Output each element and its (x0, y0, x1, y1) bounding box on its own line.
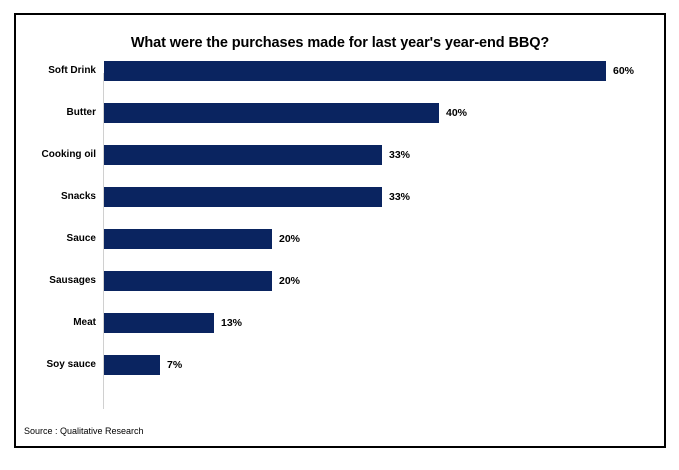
bar-row: Sauce 20% (16, 229, 664, 271)
bar-row: Soft Drink 60% (16, 61, 664, 103)
category-label: Meat (0, 313, 96, 333)
bar-cooking-oil[interactable] (104, 145, 382, 165)
bar-value-label: 20% (272, 229, 300, 249)
bar-sausages[interactable] (104, 271, 272, 291)
bar-snacks[interactable] (104, 187, 382, 207)
category-label: Soft Drink (0, 61, 96, 81)
bar-row: Meat 13% (16, 313, 664, 355)
bar-value-label: 13% (214, 313, 242, 333)
bar-soft-drink[interactable] (104, 61, 606, 81)
category-label: Cooking oil (0, 145, 96, 165)
bar-row: Soy sauce 7% (16, 355, 664, 397)
category-label: Sausages (0, 271, 96, 291)
category-label: Snacks (0, 187, 96, 207)
bar-row: Cooking oil 33% (16, 145, 664, 187)
bar-value-label: 33% (382, 187, 410, 207)
bar-value-label: 7% (160, 355, 182, 375)
bar-row: Snacks 33% (16, 187, 664, 229)
bar-value-label: 33% (382, 145, 410, 165)
category-label: Sauce (0, 229, 96, 249)
bar-soy-sauce[interactable] (104, 355, 160, 375)
bar-meat[interactable] (104, 313, 214, 333)
chart-container: What were the purchases made for last ye… (14, 13, 666, 448)
bar-row: Butter 40% (16, 103, 664, 145)
category-label: Butter (0, 103, 96, 123)
category-label: Soy sauce (0, 355, 96, 375)
bar-row: Sausages 20% (16, 271, 664, 313)
bar-butter[interactable] (104, 103, 439, 123)
plot-area: Soft Drink 60% Butter 40% Cooking oil 33… (16, 61, 664, 405)
source-note: Source : Qualitative Research (24, 426, 144, 436)
chart-title: What were the purchases made for last ye… (16, 35, 664, 51)
bar-value-label: 60% (606, 61, 634, 81)
bar-value-label: 40% (439, 103, 467, 123)
bar-value-label: 20% (272, 271, 300, 291)
bar-sauce[interactable] (104, 229, 272, 249)
